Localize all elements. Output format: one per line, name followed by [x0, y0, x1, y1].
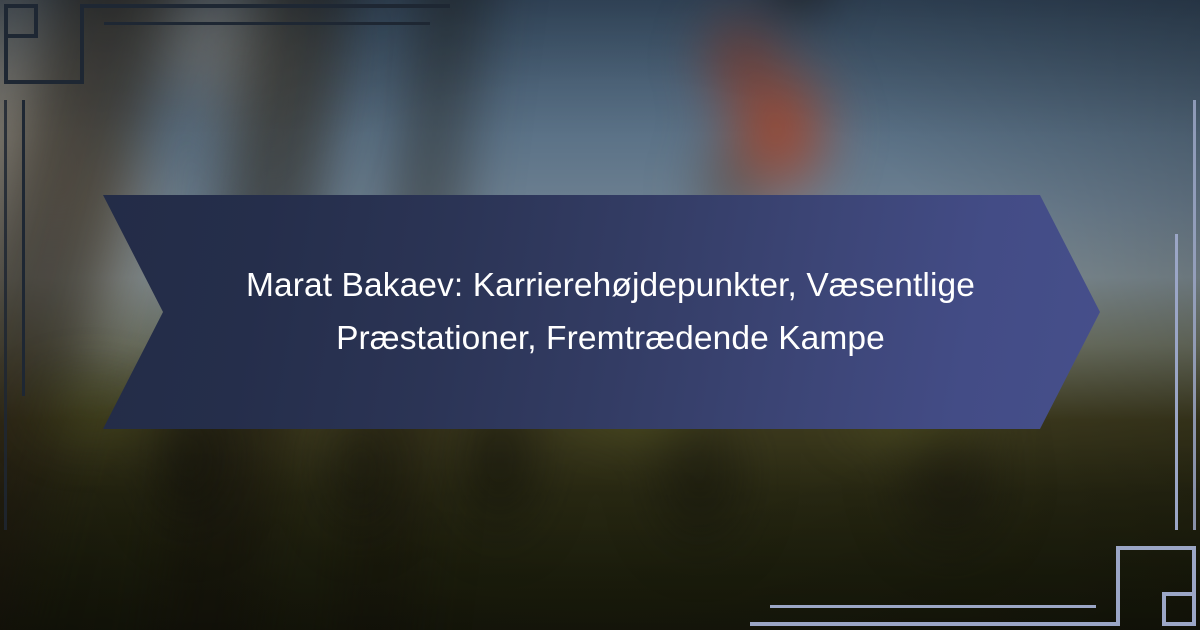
corner-square-icon [4, 4, 38, 38]
corner-frame-bottom-right [1030, 460, 1200, 630]
corner-rule-horizontal [1116, 546, 1196, 550]
corner-frame-top-left [0, 0, 170, 170]
title-banner: Marat Bakaev: Karrierehøjdepunkter, Væse… [103, 195, 1100, 429]
corner-rule-vertical [1192, 546, 1196, 592]
corner-rule-horizontal [4, 80, 84, 84]
page-title-line-1: Marat Bakaev: Karrierehøjdepunkter, Væse… [225, 259, 997, 312]
corner-bracket-horizontal [80, 4, 450, 8]
corner-outer-rule-vertical [4, 100, 7, 530]
page-title: Marat Bakaev: Karrierehøjdepunkter, Væse… [207, 259, 997, 365]
corner-thin-rule-horizontal [770, 605, 1096, 608]
corner-thin-rule-vertical [22, 100, 25, 396]
corner-thin-rule-vertical [1175, 234, 1178, 530]
corner-bracket-horizontal [750, 622, 1120, 626]
corner-square-icon [1162, 592, 1196, 626]
page-title-line-2: Præstationer, Fremtrædende Kampe [225, 312, 997, 365]
corner-outer-rule-vertical [1193, 100, 1196, 530]
title-card: Marat Bakaev: Karrierehøjdepunkter, Væse… [0, 0, 1200, 630]
corner-bracket-vertical [80, 4, 84, 84]
corner-thin-rule-horizontal [104, 22, 430, 25]
corner-rule-vertical [4, 38, 8, 84]
corner-bracket-vertical [1116, 546, 1120, 626]
